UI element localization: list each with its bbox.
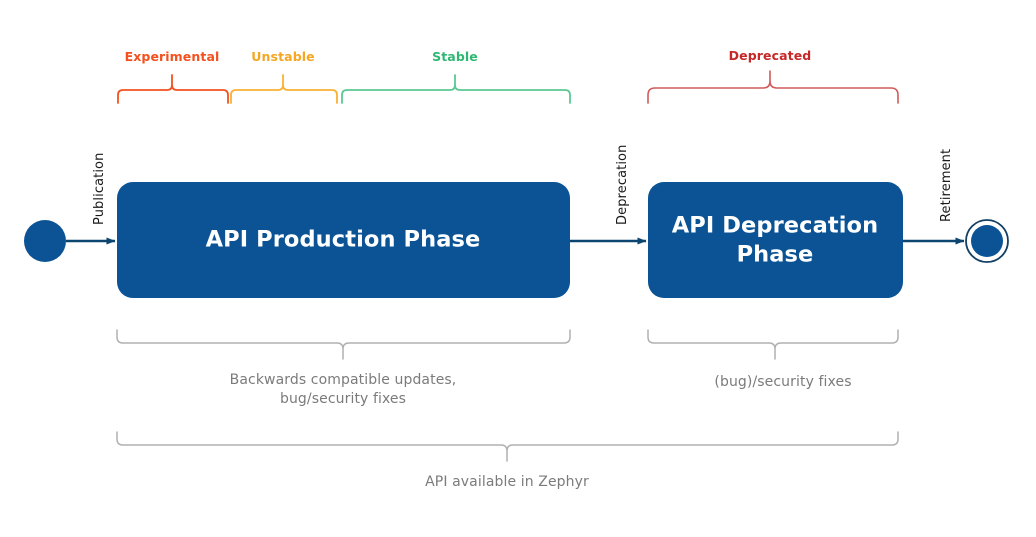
bottom-brace-backwards-compatible (117, 330, 570, 359)
api-deprecation-phase-label: API Deprecation Phase (672, 211, 878, 268)
bottom-label-api-available: API available in Zephyr (425, 473, 589, 492)
bottom-label-bug-security-fixes: (bug)/security fixes (714, 373, 851, 392)
start-node (24, 220, 66, 262)
transition-label-retirement: Retirement (939, 149, 954, 222)
bottom-brace-bug-security (648, 330, 898, 359)
brace-label-experimental: Experimental (125, 49, 220, 64)
bottom-brace-api-available (117, 432, 898, 461)
diagram-graphics (0, 0, 1036, 537)
transition-label-deprecation: Deprecation (615, 145, 630, 225)
transition-label-publication: Publication (92, 153, 107, 225)
api-production-phase-label: API Production Phase (206, 226, 481, 255)
end-node (966, 220, 1008, 262)
bottom-label-backwards-compatible: Backwards compatible updates, bug/securi… (230, 371, 457, 410)
brace-label-stable: Stable (432, 49, 478, 64)
top-brace-deprecated (648, 71, 898, 103)
brace-label-deprecated: Deprecated (729, 48, 812, 63)
diagram-canvas: Experimental Unstable Stable Deprecated … (0, 0, 1036, 537)
top-brace-stable (342, 75, 570, 103)
top-brace-unstable (231, 75, 337, 103)
brace-label-unstable: Unstable (251, 49, 314, 64)
top-brace-experimental (118, 75, 228, 103)
